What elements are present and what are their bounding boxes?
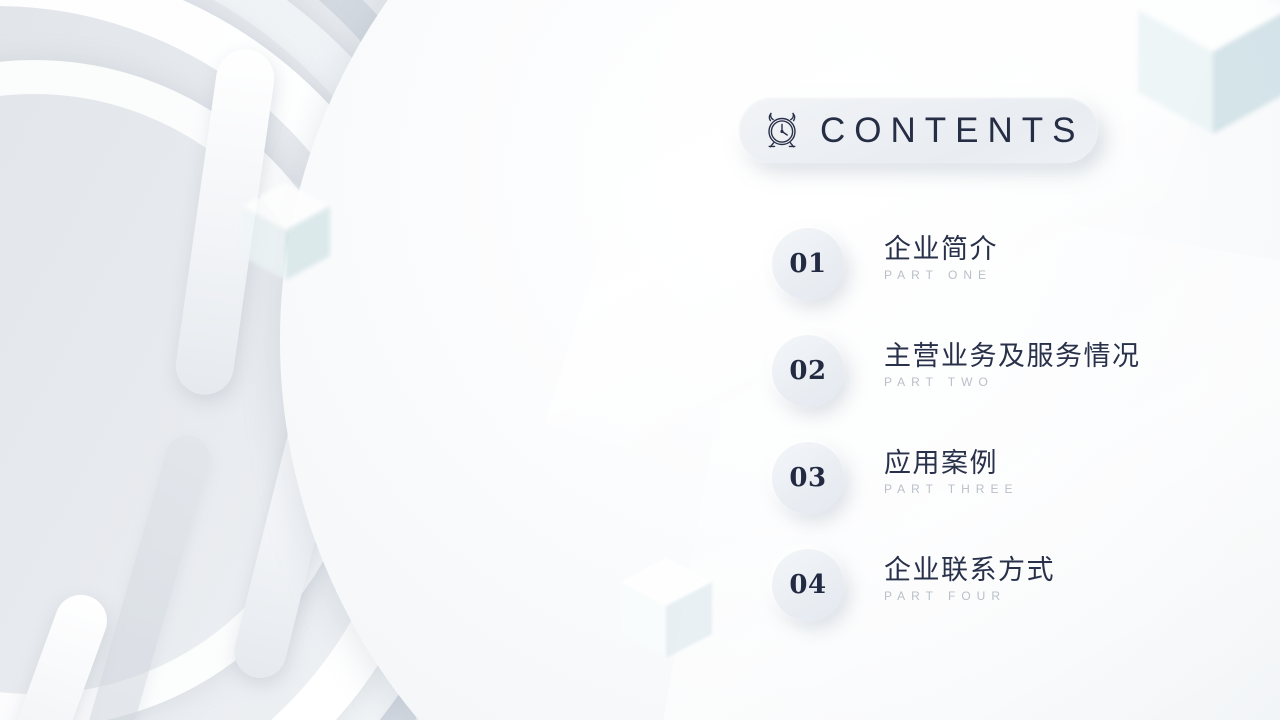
contents-item-text: 企业联系方式 PART FOUR <box>884 555 1055 603</box>
contents-item-subtitle: PART THREE <box>884 482 1018 496</box>
contents-list: 01 企业简介 PART ONE 02 主营业务及服务情况 PART TWO 0… <box>772 228 1252 656</box>
contents-title-badge: CONTENTS <box>738 97 1098 163</box>
contents-number-badge[interactable]: 03 <box>772 442 844 514</box>
contents-item-02[interactable]: 02 主营业务及服务情况 PART TWO <box>772 335 1252 442</box>
contents-number-label: 03 <box>789 465 826 491</box>
contents-item-text: 企业简介 PART ONE <box>884 234 998 282</box>
contents-item-01[interactable]: 01 企业简介 PART ONE <box>772 228 1252 335</box>
contents-item-text: 主营业务及服务情况 PART TWO <box>884 341 1141 389</box>
contents-number-badge[interactable]: 04 <box>772 549 844 621</box>
cube-bottom-center <box>612 552 720 664</box>
contents-number-label: 01 <box>789 251 826 277</box>
contents-number-label: 02 <box>789 358 826 384</box>
contents-title-label: CONTENTS <box>818 113 1085 148</box>
contents-number-label: 04 <box>789 572 826 598</box>
contents-item-heading: 企业联系方式 <box>884 555 1055 587</box>
contents-item-subtitle: PART FOUR <box>884 589 1055 603</box>
contents-item-heading: 企业简介 <box>884 234 998 266</box>
alarm-clock-icon <box>760 108 804 152</box>
presentation-slide: CONTENTS 01 企业简介 PART ONE 02 主营业务及服务情况 P… <box>0 0 1280 720</box>
contents-item-subtitle: PART TWO <box>884 375 1141 389</box>
contents-item-text: 应用案例 PART THREE <box>884 448 1018 496</box>
cube-top-right <box>1128 0 1280 138</box>
contents-item-heading: 应用案例 <box>884 448 1018 480</box>
contents-item-heading: 主营业务及服务情况 <box>884 341 1141 373</box>
contents-number-badge[interactable]: 02 <box>772 335 844 407</box>
contents-item-subtitle: PART ONE <box>884 268 998 282</box>
contents-number-badge[interactable]: 01 <box>772 228 844 300</box>
contents-item-04[interactable]: 04 企业联系方式 PART FOUR <box>772 549 1252 656</box>
contents-item-03[interactable]: 03 应用案例 PART THREE <box>772 442 1252 549</box>
cube-left <box>236 176 336 286</box>
